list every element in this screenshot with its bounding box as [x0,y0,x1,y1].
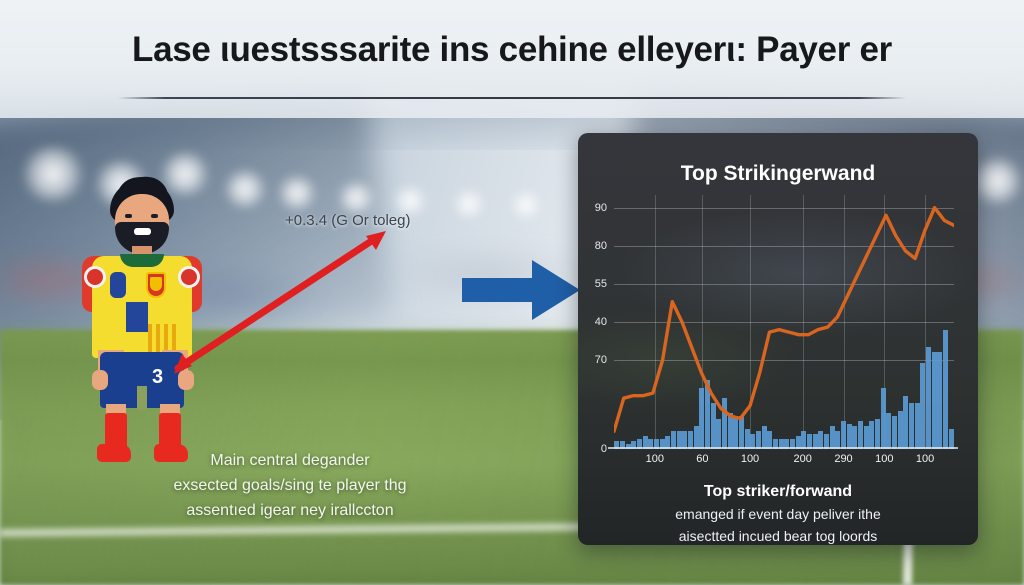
chart-x-tick-label: 290 [834,453,852,465]
blue-transition-arrow-icon [462,256,582,324]
chart-x-tick-label: 100 [741,453,759,465]
player-shorts-gap [137,386,147,410]
floodlight [336,182,376,214]
jersey-sponsor-patch [110,272,126,298]
player-shirt-number: 3 [152,366,163,389]
floodlight [222,170,268,208]
floodlight [18,146,88,202]
jersey-stripe [148,324,152,354]
chart-y-tick-label: 90 [595,202,607,214]
chart-caption-title: Top striker/forwand [588,481,968,503]
chart-caption-line-3: aisectted incued bear tog loords [588,525,968,545]
chart-y-tick-label: 80 [595,240,607,252]
chart-trend-line [614,208,954,432]
club-crest-inner [150,277,162,291]
title-divider [118,97,906,99]
chart-caption: Top striker/forwand emanged if event day… [588,481,968,545]
chart-x-tick-label: 200 [794,453,812,465]
player-eye-right [151,214,158,218]
chart-title: Top Strikingerwand [578,162,978,186]
chart-x-tick-label: 100 [916,453,934,465]
left-caption-line-3: assentıed igear ney irallccton [30,498,550,523]
chart-line-series [614,195,954,449]
left-caption-line-2: exsected goals/sing te player thg [30,473,550,498]
chart-x-axis-ticks: 10060100200290100100 [614,453,954,471]
red-trend-arrow-icon [170,226,395,376]
player-mouth [134,228,151,235]
jersey-front-panel [126,302,148,332]
player-collar [120,254,164,267]
chart-panel: Top Strikingerwand 90805540700 100601002… [578,133,978,545]
chart-x-axis [608,447,958,449]
chart-y-tick-label: 40 [595,316,607,328]
chart-x-tick-label: 60 [696,453,708,465]
xg-delta-annotation: +0.3.4 (G Or toleg) [285,212,410,229]
player-hand-left [92,370,108,390]
chart-plot-area: 90805540700 [614,195,954,449]
floodlight [276,176,318,210]
chart-y-tick-label: 70 [595,354,607,366]
left-caption-line-1: Main central degander [30,448,550,473]
left-player-caption: Main central degander exsected goals/sin… [30,448,550,523]
chart-caption-line-2: emanged if event day peliver ithe [588,503,968,525]
chart-x-tick-label: 100 [875,453,893,465]
chart-y-tick-label: 55 [595,278,607,290]
player-eye-left [125,214,132,218]
page-title: Lase ιuestsssarite ins cehine elleyerι: … [0,30,1024,70]
floodlight [452,190,486,218]
chart-y-tick-label: 0 [601,443,607,455]
chart-x-tick-label: 100 [646,453,664,465]
jersey-stripe [156,324,160,354]
sleeve-badge-left-icon [84,266,106,288]
